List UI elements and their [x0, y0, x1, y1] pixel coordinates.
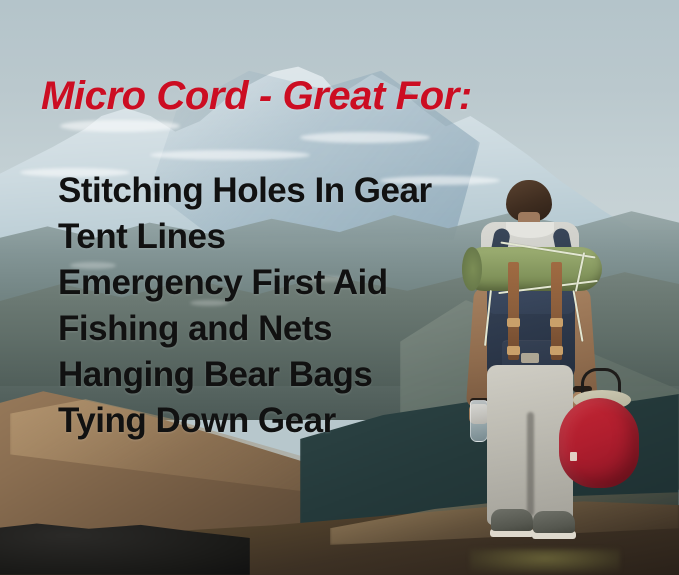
stuff-sack-tag	[570, 452, 577, 461]
strap-buckle	[507, 346, 520, 355]
poster-title: Micro Cord - Great For:	[41, 74, 472, 119]
backpack-logo	[521, 353, 539, 363]
product-poster: Micro Cord - Great For: Stitching Holes …	[0, 0, 679, 575]
use-list-item: Emergency First Aid	[58, 260, 498, 306]
shoe-right	[533, 511, 575, 533]
strap-buckle	[550, 318, 563, 327]
use-list-item: Hanging Bear Bags	[58, 352, 498, 398]
use-list-item: Tent Lines	[58, 214, 498, 260]
strap-buckle	[507, 318, 520, 327]
shoe-left	[491, 509, 533, 531]
use-list-item: Tying Down Gear	[58, 398, 498, 444]
use-list-item: Fishing and Nets	[58, 306, 498, 352]
stuff-sack	[559, 398, 639, 488]
shirt-collar	[506, 222, 554, 238]
strap-buckle	[550, 346, 563, 355]
pant-leg-separation	[527, 412, 534, 516]
uses-list: Stitching Holes In Gear Tent Lines Emerg…	[58, 168, 498, 444]
use-list-item: Stitching Holes In Gear	[58, 168, 498, 214]
